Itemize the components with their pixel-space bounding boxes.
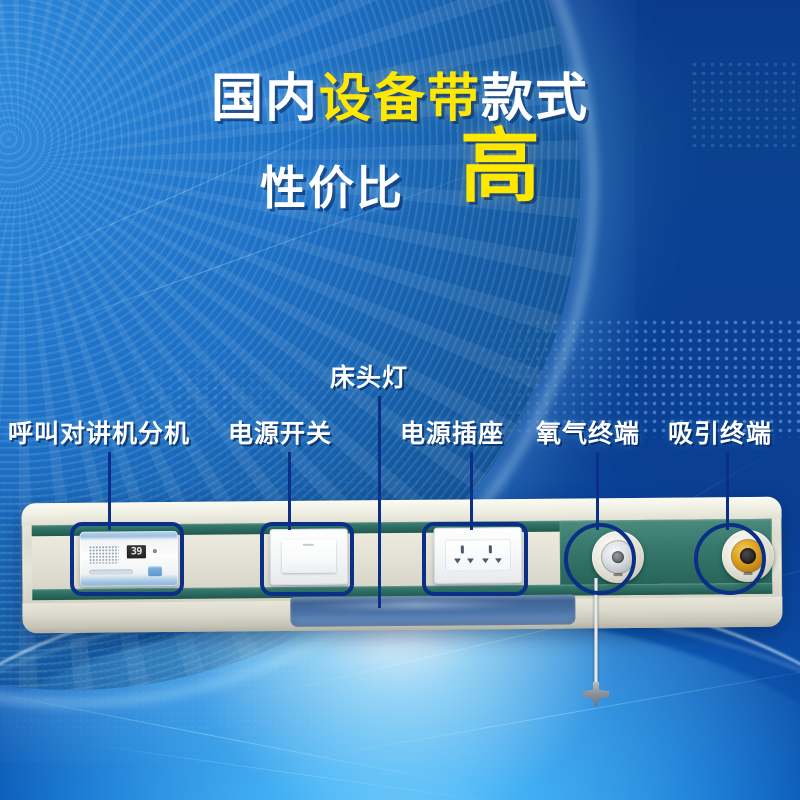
callout-label-suction-outlet: 吸引终端: [668, 414, 772, 450]
callout-label-group: 呼叫对讲机分机 电源开关 床头灯 电源插座 氧气终端 吸引终端: [0, 0, 800, 800]
poster-canvas: 国内设备带款式 性价比 高 呼叫对讲机分机 电源开关 床头灯 电源插座 氧气终端…: [0, 0, 800, 800]
callout-label-power-switch: 电源开关: [228, 414, 332, 450]
callout-label-power-socket: 电源插座: [400, 414, 504, 450]
callout-label-bed-lamp: 床头灯: [330, 358, 408, 394]
callout-label-intercom: 呼叫对讲机分机: [8, 414, 190, 450]
callout-label-oxygen-outlet: 氧气终端: [536, 414, 640, 450]
